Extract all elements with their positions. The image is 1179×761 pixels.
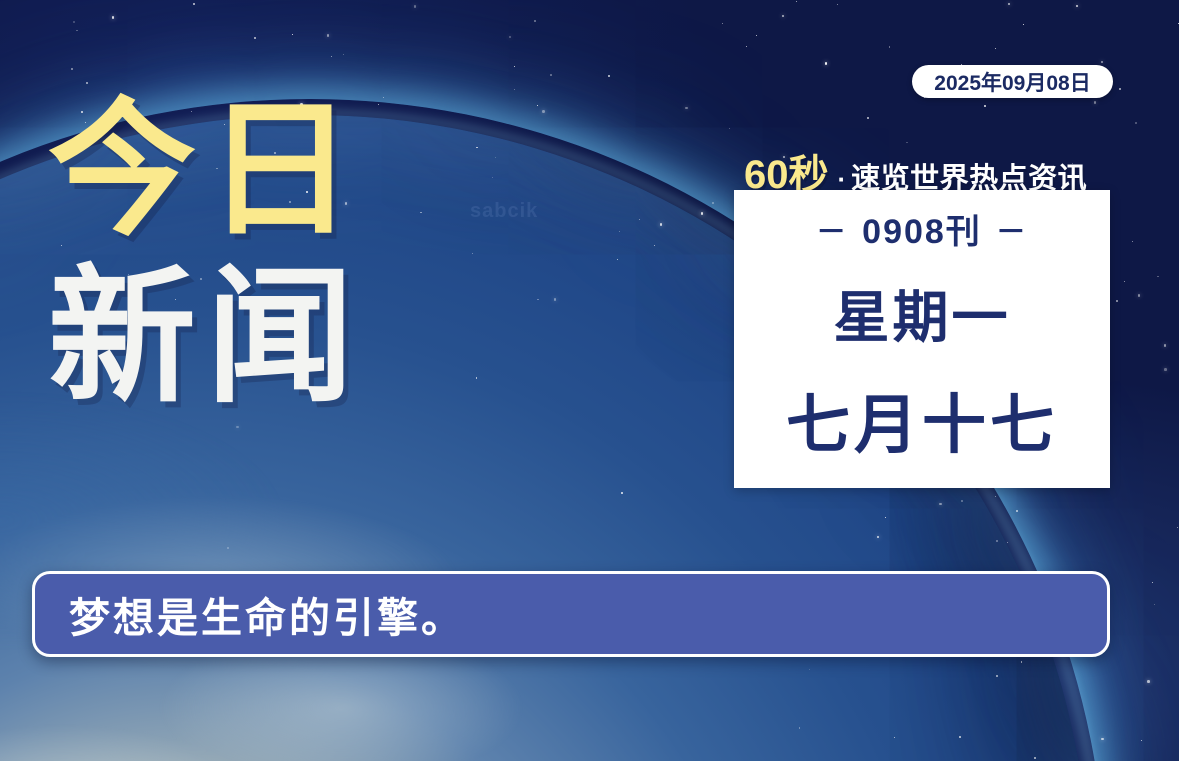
date-badge: 2025年09月08日 [912,65,1113,98]
page-title: 今日 新闻 [48,98,364,410]
title-line-today: 今日 [48,98,364,243]
news-poster: sabcik 2025年09月08日 今日 新闻 60秒 · 速览世界热点资讯 … [0,0,1179,761]
date-badge-label: 2025年09月08日 [934,67,1090,97]
quote-text: 梦想是生命的引擎。 [69,584,465,644]
issue-dash-right-icon: － [996,207,1028,251]
issue-number: 0908刊 [862,204,982,253]
title-line-news: 新闻 [48,265,364,410]
issue-info-card: － 0908刊 － 星期一 七月十七 [734,190,1110,488]
watermark-text: sabcik [470,200,538,223]
issue-row: － 0908刊 － [816,204,1028,253]
quote-bar: 梦想是生命的引擎。 [32,571,1110,657]
weekday-label: 星期一 [834,273,1011,354]
issue-dash-left-icon: － [816,207,848,251]
lunar-date-label: 七月十七 [786,374,1058,466]
